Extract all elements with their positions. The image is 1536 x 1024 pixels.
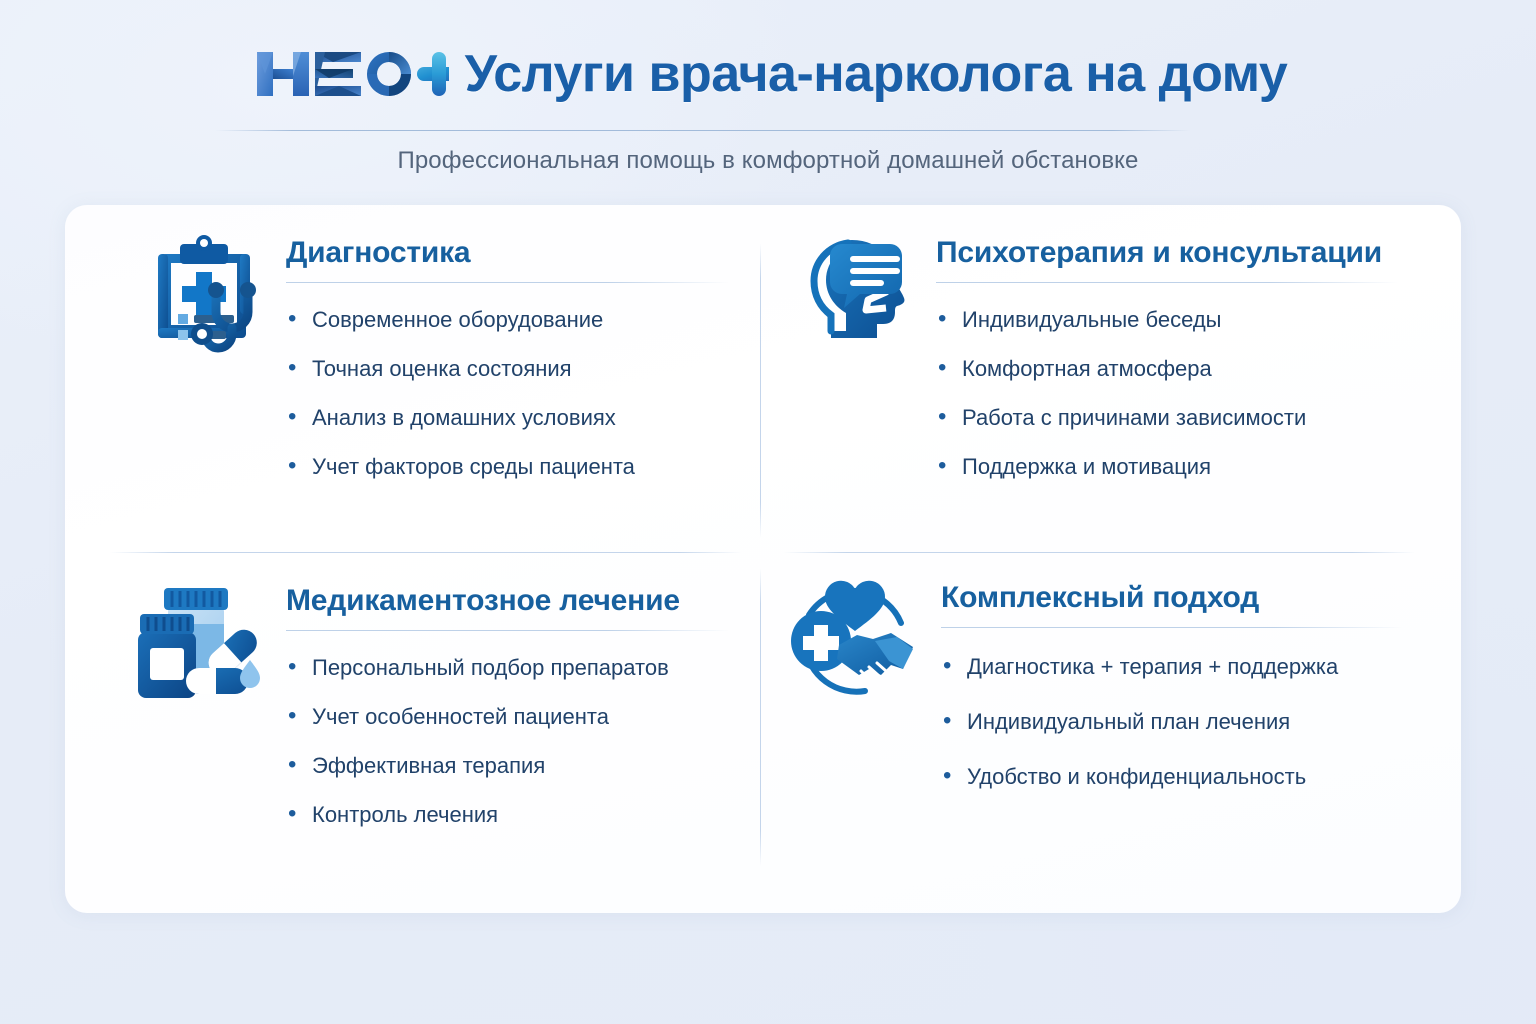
neo-plus-logo bbox=[249, 38, 449, 110]
logo-title-row: Услуги врача-нарколога на дому bbox=[0, 38, 1536, 110]
list-item: Удобство и конфиденциальность bbox=[941, 766, 1403, 788]
list-item: Эффективная терапия bbox=[286, 755, 743, 777]
list-item: Индивидуальные беседы bbox=[936, 309, 1400, 331]
list-item: Диагностика + терапия + поддержка bbox=[941, 656, 1403, 678]
list-item: Учет факторов среды пациента bbox=[286, 456, 740, 478]
service-title: Комплексный подход bbox=[941, 581, 1403, 614]
header-divider bbox=[215, 130, 1190, 131]
service-title-underline bbox=[941, 627, 1403, 628]
service-block-medication: Медикаментозное лечение Персональный под… bbox=[128, 578, 743, 826]
head-speech-bubble-icon bbox=[790, 230, 918, 358]
vertical-divider-bottom bbox=[760, 568, 761, 866]
list-item: Работа с причинами зависимости bbox=[936, 407, 1400, 429]
clipboard-stethoscope-icon bbox=[140, 230, 268, 358]
page-subtitle: Профессиональная помощь в комфортной дом… bbox=[0, 147, 1536, 175]
pill-bottles-capsules-icon bbox=[128, 578, 268, 706]
service-title-underline bbox=[286, 630, 730, 631]
horizontal-divider-left bbox=[110, 552, 742, 553]
service-body-therapy: Психотерапия и консультации Индивидуальн… bbox=[936, 230, 1400, 478]
list-item: Учет особенностей пациента bbox=[286, 706, 743, 728]
page-header: Услуги врача-нарколога на дому Профессио… bbox=[0, 0, 1536, 196]
service-feature-list: Современное оборудование Точная оценка с… bbox=[286, 309, 740, 478]
list-item: Персональный подбор препаратов bbox=[286, 657, 743, 679]
service-block-therapy: Психотерапия и консультации Индивидуальн… bbox=[790, 230, 1400, 478]
service-body-complex: Комплексный подход Диагностика + терапия… bbox=[941, 575, 1403, 821]
service-title: Медикаментозное лечение bbox=[286, 584, 743, 617]
service-feature-list: Индивидуальные беседы Комфортная атмосфе… bbox=[936, 309, 1400, 478]
horizontal-divider-right bbox=[783, 552, 1415, 553]
list-item: Контроль лечения bbox=[286, 804, 743, 826]
service-title-underline bbox=[286, 282, 730, 283]
service-body-diagnostics: Диагностика Современное оборудование Точ… bbox=[286, 230, 740, 478]
list-item: Индивидуальный план лечения bbox=[941, 711, 1403, 733]
list-item: Современное оборудование bbox=[286, 309, 740, 331]
service-feature-list: Персональный подбор препаратов Учет особ… bbox=[286, 657, 743, 826]
service-title: Психотерапия и консультации bbox=[936, 236, 1400, 269]
list-item: Анализ в домашних условиях bbox=[286, 407, 740, 429]
service-block-diagnostics: Диагностика Современное оборудование Точ… bbox=[140, 230, 740, 478]
vertical-divider-top bbox=[760, 243, 761, 538]
service-feature-list: Диагностика + терапия + поддержка Индиви… bbox=[941, 656, 1403, 788]
service-body-medication: Медикаментозное лечение Персональный под… bbox=[286, 578, 743, 826]
heart-handshake-cross-icon bbox=[783, 575, 923, 703]
service-title: Диагностика bbox=[286, 236, 740, 269]
service-title-underline bbox=[936, 282, 1398, 283]
neo-plus-logo-icon bbox=[249, 38, 449, 110]
page-title: Услуги врача-нарколога на дому bbox=[465, 48, 1288, 100]
list-item: Точная оценка состояния bbox=[286, 358, 740, 380]
list-item: Комфортная атмосфера bbox=[936, 358, 1400, 380]
service-block-complex: Комплексный подход Диагностика + терапия… bbox=[783, 575, 1403, 821]
list-item: Поддержка и мотивация bbox=[936, 456, 1400, 478]
infographic-page: Услуги врача-нарколога на дому Профессио… bbox=[0, 0, 1536, 1024]
